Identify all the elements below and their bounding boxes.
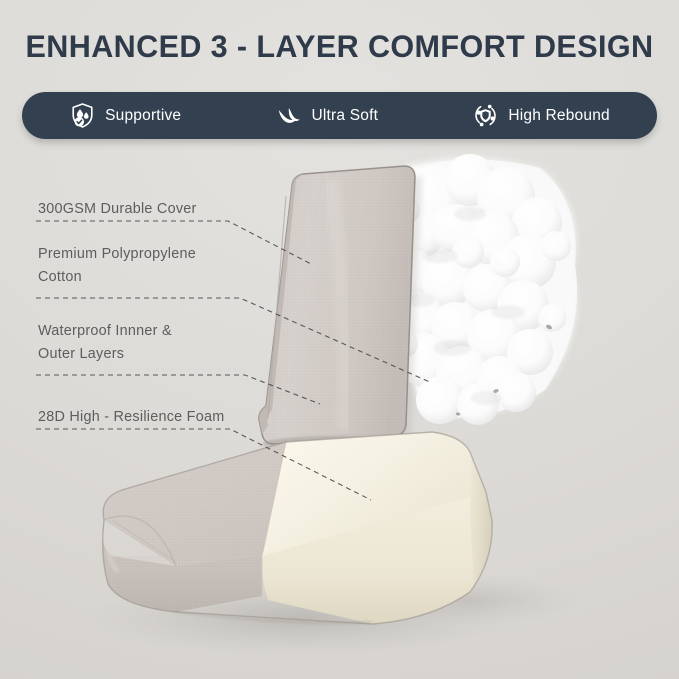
shield-droplet-check-icon: [69, 102, 96, 129]
callout-label-waterproof-layers: Waterproof Innner & Outer Layers: [38, 320, 172, 367]
shield-orbit-icon: [472, 102, 499, 129]
seat-cushion: [103, 432, 493, 624]
infographic-stage: ENHANCED 3 - LAYER COMFORT DESIGN Suppor…: [0, 0, 679, 679]
feature-label: Supportive: [105, 107, 181, 125]
callout-label-resilience-foam: 28D High - Resilience Foam: [38, 406, 224, 429]
backrest-cushion: [259, 166, 422, 452]
feather-icon: [275, 102, 302, 129]
feature-label: High Rebound: [508, 107, 610, 125]
feature-bar: Supportive Ultra Soft High Rebound: [22, 92, 657, 139]
feature-label: Ultra Soft: [311, 107, 378, 125]
callout-label-polypropylene-cotton: Premium Polypropylene Cotton: [38, 243, 196, 290]
feature-item-high-rebound[interactable]: High Rebound: [472, 92, 610, 139]
callout-label-durable-cover: 300GSM Durable Cover: [38, 198, 197, 221]
feature-item-supportive[interactable]: Supportive: [69, 92, 181, 139]
feature-item-ultra-soft[interactable]: Ultra Soft: [275, 92, 378, 139]
page-title: ENHANCED 3 - LAYER COMFORT DESIGN: [10, 28, 669, 65]
